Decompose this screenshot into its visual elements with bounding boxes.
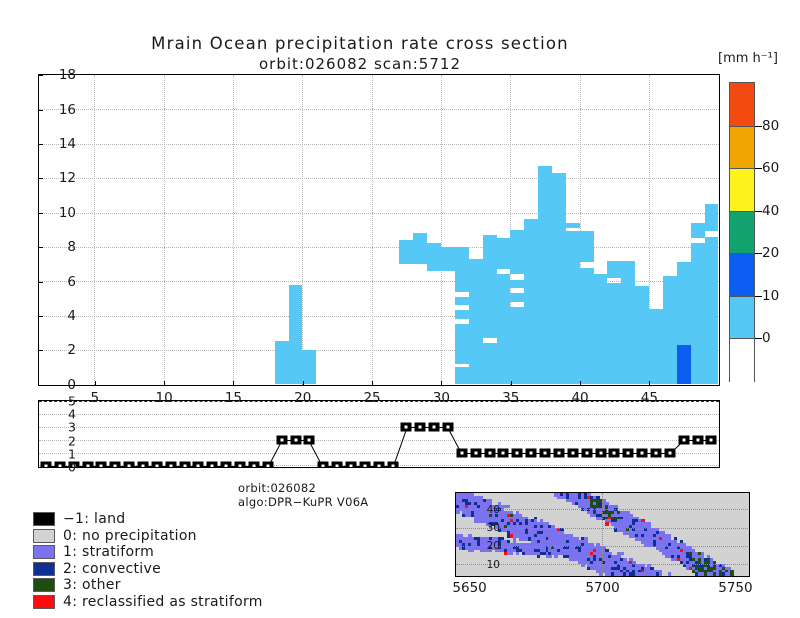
legend-label: 1: stratiform <box>63 544 154 560</box>
type-marker <box>193 462 204 468</box>
type-marker <box>637 449 648 458</box>
precip-cell <box>427 243 441 271</box>
precip-cell <box>510 307 524 384</box>
gridline-y-10 <box>39 213 719 214</box>
legend-item: 4: reclassified as stratiform <box>33 594 263 611</box>
type-marker <box>345 462 356 468</box>
legend-item: 1: stratiform <box>33 544 263 561</box>
legend-item: 3: other <box>33 577 263 594</box>
type-gridline-3 <box>39 427 719 428</box>
colorbar-label-40: 40 <box>762 203 779 219</box>
precip-cell <box>497 274 511 384</box>
x-axis-tick-20 <box>303 381 304 386</box>
map-pixel <box>659 572 663 576</box>
precip-cell <box>455 367 469 384</box>
precip-cell <box>635 286 649 384</box>
type-marker <box>678 436 689 445</box>
y-axis-tick-4 <box>38 316 43 317</box>
precip-cell <box>649 309 663 385</box>
type-marker <box>540 449 551 458</box>
inset-x-label-5650: 5650 <box>452 580 486 596</box>
type-marker <box>567 449 578 458</box>
type-marker-dot <box>363 465 366 468</box>
type-marker-dot <box>377 465 380 468</box>
type-marker <box>359 462 370 468</box>
colorbar-segment-60-80 <box>730 126 754 170</box>
type-marker-dot <box>336 465 339 468</box>
type-marker-dot <box>225 465 228 468</box>
map-pixel <box>554 555 558 559</box>
type-marker <box>470 449 481 458</box>
y-axis-tick-14 <box>38 144 43 145</box>
type-marker <box>96 462 107 468</box>
precip-cell <box>455 324 469 364</box>
type-marker-dot <box>86 465 89 468</box>
y-axis-tick-10 <box>38 213 43 214</box>
precip-cell <box>483 235 497 338</box>
x-axis-label-20: 20 <box>294 390 311 406</box>
type-marker-dot <box>183 465 186 468</box>
type-marker <box>248 462 259 468</box>
x-axis-tick-15 <box>233 381 234 386</box>
type-marker <box>443 423 454 432</box>
precip-cell <box>441 247 455 271</box>
type-marker-dot <box>544 452 547 455</box>
type-marker-dot <box>682 439 685 442</box>
precip-cell <box>580 268 594 385</box>
y-axis-tick-2 <box>38 350 43 351</box>
colorbar-segment-10-20 <box>730 253 754 297</box>
type-marker-dot <box>488 452 491 455</box>
legend-item: 2: convective <box>33 561 263 578</box>
type-marker <box>456 449 467 458</box>
x-axis-tick-10 <box>164 381 165 386</box>
type-marker-dot <box>114 465 117 468</box>
type-marker <box>318 462 329 468</box>
type-marker <box>623 449 634 458</box>
precip-cell <box>691 223 705 238</box>
type-marker-dot <box>266 465 269 468</box>
type-marker-dot <box>655 452 658 455</box>
type-marker-dot <box>141 465 144 468</box>
precip-cell <box>497 238 511 269</box>
precip-type-strip <box>38 400 720 468</box>
colorbar-tick-60 <box>755 168 762 169</box>
type-marker <box>276 436 287 445</box>
x-axis-label-45: 45 <box>641 390 658 406</box>
precip-cell <box>580 231 594 262</box>
type-marker-dot <box>516 452 519 455</box>
gridline-y-14 <box>39 144 719 145</box>
gridline-y-12 <box>39 178 719 179</box>
type-marker <box>387 462 398 468</box>
legend-item: −1: land <box>33 511 263 528</box>
colorbar <box>729 82 755 382</box>
colorbar-tick-10 <box>755 296 762 297</box>
type-gridline-2 <box>39 440 719 441</box>
inset-x-label-5700: 5700 <box>585 580 619 596</box>
legend-swatch <box>33 529 55 543</box>
type-marker <box>429 423 440 432</box>
y-axis-tick-8 <box>38 247 43 248</box>
x-axis-tick-40 <box>580 381 581 386</box>
type-marker-dot <box>710 439 713 442</box>
precip-cell <box>663 276 677 384</box>
y-axis-tick-18 <box>38 75 43 76</box>
type-marker-dot <box>502 452 505 455</box>
colorbar-tick-40 <box>755 211 762 212</box>
type-marker-dot <box>239 465 242 468</box>
precip-cell <box>275 341 289 384</box>
type-marker <box>82 462 93 468</box>
type-marker-dot <box>433 426 436 429</box>
type-marker-dot <box>585 452 588 455</box>
colorbar-tick-0 <box>755 338 762 339</box>
type-y-label-5: 5 <box>42 394 76 409</box>
precip-cell <box>302 350 316 384</box>
legend-swatch <box>33 578 55 592</box>
type-marker-dot <box>405 426 408 429</box>
x-axis-label-35: 35 <box>502 390 519 406</box>
gridline-y-16 <box>39 109 719 110</box>
colorbar-segment-20-40 <box>730 211 754 255</box>
precip-cell <box>510 230 524 275</box>
type-marker <box>498 449 509 458</box>
map-pixel <box>507 505 511 509</box>
precip-cell <box>607 283 621 384</box>
type-marker <box>235 462 246 468</box>
x-axis-tick-30 <box>441 381 442 386</box>
colorbar-tick-80 <box>755 126 762 127</box>
precip-cell <box>621 261 635 385</box>
type-connector <box>393 427 408 467</box>
precip-cell <box>524 219 538 384</box>
type-y-label-1: 1 <box>42 446 76 461</box>
colorbar-label-80: 80 <box>762 118 779 134</box>
legend-swatch <box>33 595 55 609</box>
precip-cell <box>594 274 608 384</box>
type-marker <box>664 449 675 458</box>
type-marker <box>207 462 218 468</box>
precip-cell <box>455 297 469 306</box>
type-marker <box>137 462 148 468</box>
type-marker <box>553 449 564 458</box>
legend-swatch <box>33 545 55 559</box>
type-marker <box>595 449 606 458</box>
page-subtitle: orbit:026082 scan:5712 <box>0 55 720 73</box>
orbit-text: orbit:026082 <box>238 481 368 495</box>
inset-x-label-5750: 5750 <box>718 580 752 596</box>
type-marker <box>373 462 384 468</box>
gridline-x-15 <box>233 75 234 385</box>
type-marker <box>151 462 162 468</box>
type-marker <box>179 462 190 468</box>
type-y-label-0: 0 <box>42 459 76 474</box>
type-y-label-3: 3 <box>42 420 76 435</box>
type-marker-dot <box>641 452 644 455</box>
classification-legend: −1: land0: no precipitation1: stratiform… <box>33 511 263 610</box>
type-marker <box>290 436 301 445</box>
type-marker <box>221 462 232 468</box>
type-marker-dot <box>308 439 311 442</box>
precip-cell <box>469 259 483 384</box>
type-marker-dot <box>557 452 560 455</box>
type-marker-dot <box>197 465 200 468</box>
precip-cell <box>510 280 524 289</box>
legend-label: 4: reclassified as stratiform <box>63 594 263 610</box>
precip-cell <box>607 261 621 278</box>
x-axis-label-30: 30 <box>433 390 450 406</box>
map-pixel <box>605 522 609 526</box>
x-axis-tick-25 <box>372 381 373 386</box>
map-pixel <box>516 552 520 556</box>
type-marker <box>706 436 717 445</box>
gridline-x-5 <box>94 75 95 385</box>
type-marker <box>304 436 315 445</box>
type-marker-dot <box>474 452 477 455</box>
type-marker <box>526 449 537 458</box>
colorbar-label-60: 60 <box>762 160 779 176</box>
type-marker <box>609 449 620 458</box>
precip-cell <box>413 233 427 264</box>
gridline-y-8 <box>39 247 719 248</box>
type-marker <box>124 462 135 468</box>
precip-cell <box>289 285 303 385</box>
map-pixel <box>668 572 672 576</box>
precip-cell <box>691 243 705 384</box>
x-axis-tick-35 <box>511 381 512 386</box>
type-marker-dot <box>668 452 671 455</box>
type-marker-dot <box>571 452 574 455</box>
colorbar-label-20: 20 <box>762 245 779 261</box>
map-pixel <box>510 552 514 556</box>
algo-text: algo:DPR−KuPR V06A <box>238 495 368 509</box>
gridline-x-20 <box>302 75 303 385</box>
y-axis-tick-6 <box>38 282 43 283</box>
colorbar-segment-0-10 <box>730 296 754 340</box>
type-marker-dot <box>294 439 297 442</box>
precip-cell <box>510 293 524 302</box>
map-pixel <box>548 555 552 559</box>
colorbar-tick-20 <box>755 253 762 254</box>
type-y-label-4: 4 <box>42 407 76 422</box>
type-marker-dot <box>322 465 325 468</box>
legend-label: 3: other <box>63 577 121 593</box>
precip-cell <box>399 240 413 264</box>
precip-cell <box>566 231 580 384</box>
type-marker-dot <box>100 465 103 468</box>
legend-swatch <box>33 512 55 526</box>
legend-label: 2: convective <box>63 561 161 577</box>
type-marker-dot <box>530 452 533 455</box>
cross-section-plot <box>38 74 720 386</box>
precip-cell <box>538 166 552 384</box>
type-marker-dot <box>155 465 158 468</box>
type-marker <box>165 462 176 468</box>
type-gridline-4 <box>39 414 719 415</box>
type-marker <box>512 449 523 458</box>
precip-cell <box>552 173 566 384</box>
inset-gridline-x-5700 <box>602 493 603 575</box>
type-marker-dot <box>460 452 463 455</box>
orbit-algo-note: orbit:026082 algo:DPR−KuPR V06A <box>238 481 368 509</box>
x-axis-label-15: 15 <box>225 390 242 406</box>
x-axis-tick-5 <box>95 381 96 386</box>
type-marker-dot <box>169 465 172 468</box>
colorbar-segment-<0 <box>730 338 754 382</box>
inset-y-label-30: 30 <box>474 522 500 534</box>
precip-cell <box>677 262 691 345</box>
y-axis-tick-12 <box>38 178 43 179</box>
gridline-x-10 <box>164 75 165 385</box>
precip-cell <box>455 310 469 319</box>
type-marker-dot <box>447 426 450 429</box>
x-axis-label-5: 5 <box>90 390 99 406</box>
y-axis-tick-0 <box>38 385 43 386</box>
inset-y-label-20: 20 <box>474 540 500 552</box>
type-marker-dot <box>696 439 699 442</box>
x-axis-label-40: 40 <box>571 390 588 406</box>
x-axis-label-25: 25 <box>363 390 380 406</box>
type-marker <box>415 423 426 432</box>
type-marker-dot <box>252 465 255 468</box>
precip-cell <box>677 345 691 385</box>
x-axis-label-10: 10 <box>155 390 172 406</box>
type-marker <box>651 449 662 458</box>
type-marker <box>484 449 495 458</box>
map-pixel <box>456 511 460 515</box>
precip-cell <box>705 204 719 232</box>
type-marker-dot <box>599 452 602 455</box>
type-marker-dot <box>280 439 283 442</box>
colorbar-label-10: 10 <box>762 288 779 304</box>
inset-y-label-10: 10 <box>474 559 500 571</box>
type-marker-dot <box>419 426 422 429</box>
map-pixel <box>730 572 734 576</box>
precip-cell <box>455 247 469 292</box>
type-y-label-2: 2 <box>42 433 76 448</box>
gridline-x-30 <box>441 75 442 385</box>
type-marker <box>692 436 703 445</box>
page-title: Mrain Ocean precipitation rate cross sec… <box>0 34 720 53</box>
type-marker <box>332 462 343 468</box>
legend-item: 0: no precipitation <box>33 528 263 545</box>
legend-label: −1: land <box>63 511 125 527</box>
gridline-x-25 <box>372 75 373 385</box>
type-marker <box>581 449 592 458</box>
precip-cell <box>483 343 497 384</box>
legend-label: 0: no precipitation <box>63 528 197 544</box>
map-pixel <box>537 555 541 559</box>
type-marker-dot <box>613 452 616 455</box>
precip-cell <box>705 237 719 385</box>
type-marker-dot <box>128 465 131 468</box>
type-marker-dot <box>211 465 214 468</box>
colorbar-segment-40-60 <box>730 168 754 212</box>
x-axis-tick-45 <box>649 381 650 386</box>
legend-swatch <box>33 562 55 576</box>
precip-cell <box>566 223 580 228</box>
y-axis-tick-16 <box>38 110 43 111</box>
type-marker-dot <box>391 465 394 468</box>
inset-y-label-40: 40 <box>474 504 500 516</box>
type-marker <box>262 462 273 468</box>
type-marker <box>110 462 121 468</box>
colorbar-segment-80+ <box>730 83 754 126</box>
colorbar-unit-label: [mm h⁻¹] <box>718 51 778 66</box>
type-marker-dot <box>627 452 630 455</box>
colorbar-label-0: 0 <box>762 330 771 346</box>
cross-section-plot-area <box>39 75 719 385</box>
type-marker-dot <box>349 465 352 468</box>
type-marker <box>401 423 412 432</box>
